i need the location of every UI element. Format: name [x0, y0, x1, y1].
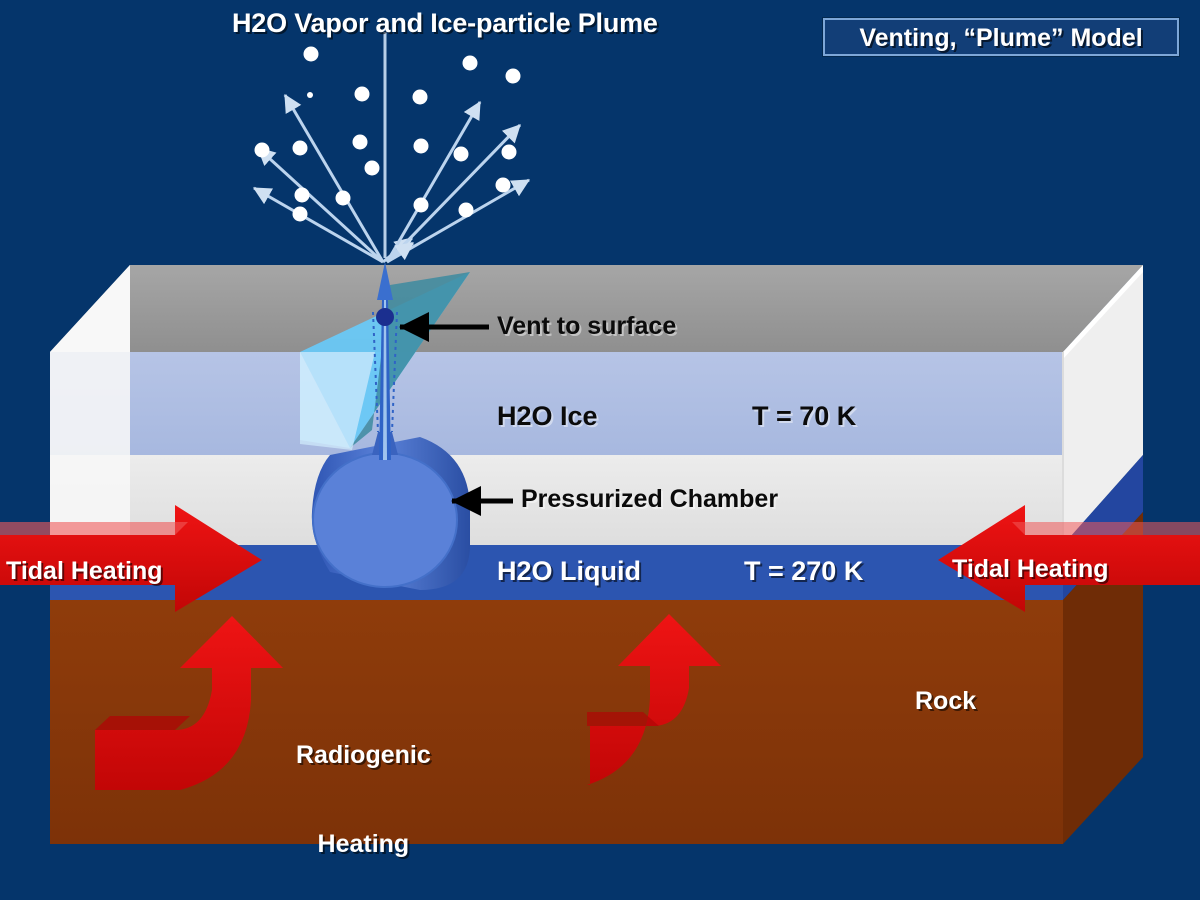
radiogenic-arrow-left-top: [95, 716, 190, 730]
liquid-temperature-label: T = 270 K: [744, 556, 863, 588]
plume-arrows: [254, 95, 529, 262]
liquid-layer-label: H2O Liquid: [497, 556, 641, 588]
diagram-canvas: H2O Vapor and Ice-particle Plume Venting…: [0, 0, 1200, 900]
plume-group: [254, 32, 529, 262]
radiogenic-heating-line1: Radiogenic: [296, 741, 431, 771]
crust-left-shade: [50, 265, 130, 545]
tidal-heating-left-label: Tidal Heating: [6, 557, 163, 587]
model-label-text: Venting, “Plume” Model: [825, 24, 1177, 53]
model-label-box: Venting, “Plume” Model: [823, 18, 1179, 56]
plume-particles: [255, 47, 521, 222]
chamber-callout-label: Pressurized Chamber: [521, 485, 778, 515]
radiogenic-heating-line2: Heating: [296, 830, 431, 860]
radiogenic-heating-label: Radiogenic Heating: [296, 682, 431, 900]
ice-layer-label: H2O Ice: [497, 401, 598, 433]
vent-callout-label: Vent to surface: [497, 312, 676, 342]
tidal-arrow-left-top: [0, 522, 188, 535]
ice-temperature-label: T = 70 K: [752, 401, 856, 433]
tidal-heating-right-label: Tidal Heating: [952, 555, 1109, 585]
page-title: H2O Vapor and Ice-particle Plume: [232, 8, 658, 40]
diagram-artwork: [0, 0, 1200, 900]
tidal-arrow-right-top: [1012, 522, 1200, 535]
rock-layer-label: Rock: [915, 687, 976, 717]
vent-nodule: [376, 308, 394, 326]
